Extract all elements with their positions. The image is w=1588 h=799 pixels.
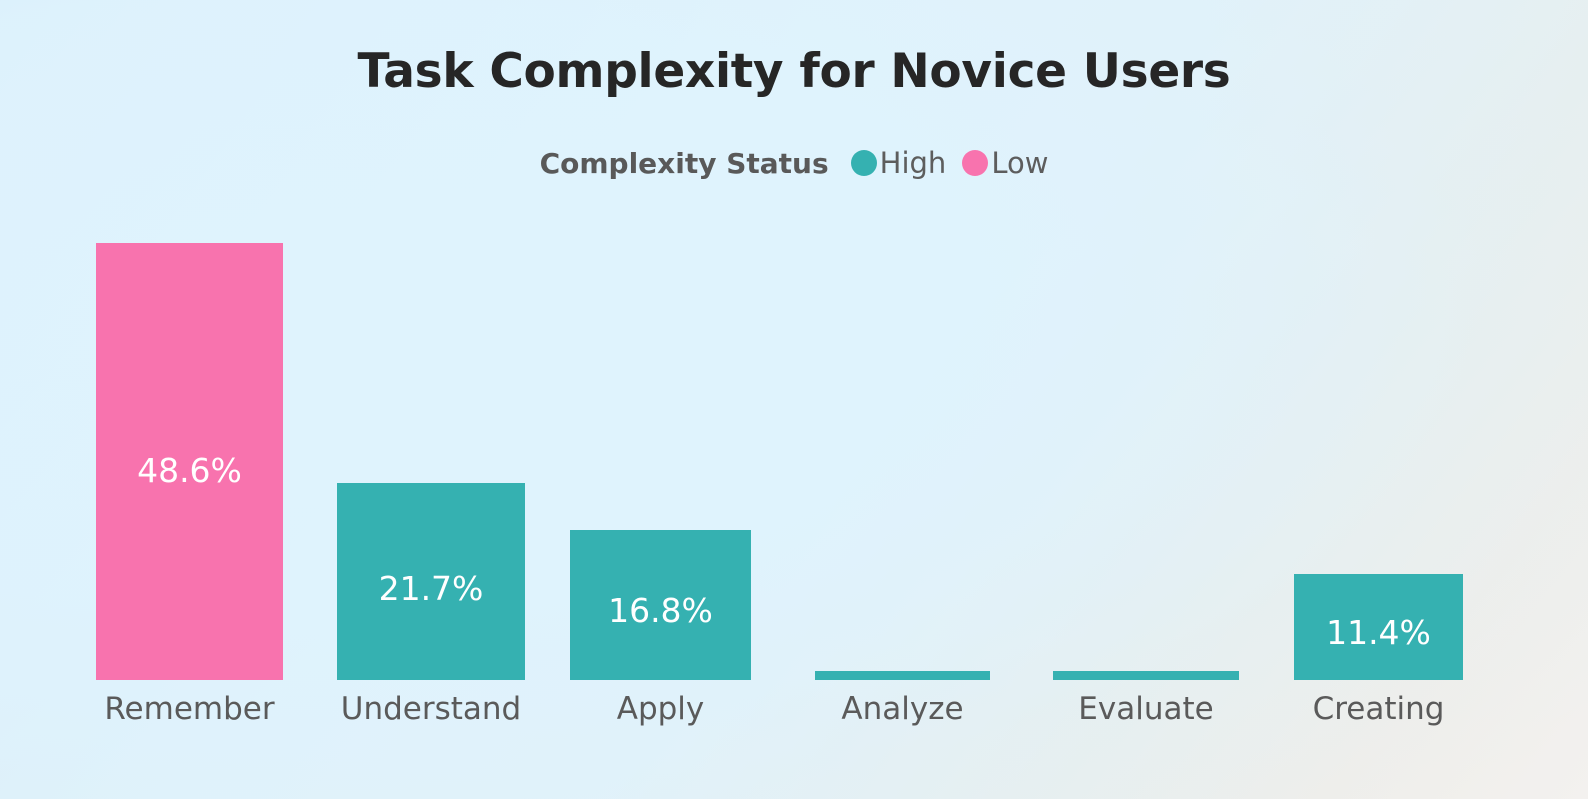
bar-rect[interactable] — [337, 483, 525, 680]
bar-group[interactable]: Analyze — [815, 671, 990, 680]
bar-rect[interactable] — [96, 243, 283, 680]
bar-rect[interactable] — [1053, 671, 1239, 680]
bar-group[interactable]: 16.8%Apply — [570, 530, 751, 680]
bar-group[interactable]: 21.7%Understand — [337, 483, 525, 680]
bar-chart-figure: Task Complexity for Novice Users Complex… — [0, 0, 1588, 799]
bar-group[interactable]: 11.4%Creating — [1294, 574, 1463, 680]
bar-rect[interactable] — [1294, 574, 1463, 680]
plot-area: 48.6%Remember21.7%Understand16.8%ApplyAn… — [0, 0, 1588, 799]
bar-group[interactable]: 48.6%Remember — [96, 243, 283, 680]
bar-rect[interactable] — [815, 671, 990, 680]
bar-group[interactable]: Evaluate — [1053, 671, 1239, 680]
x-axis-category-label: Remember — [76, 691, 303, 727]
x-axis-category-label: Analyze — [795, 691, 1010, 727]
x-axis-category-label: Understand — [317, 691, 545, 727]
x-axis-category-label: Apply — [550, 691, 771, 727]
x-axis-category-label: Evaluate — [1033, 691, 1259, 727]
bar-rect[interactable] — [570, 530, 751, 680]
x-axis-category-label: Creating — [1274, 691, 1483, 727]
